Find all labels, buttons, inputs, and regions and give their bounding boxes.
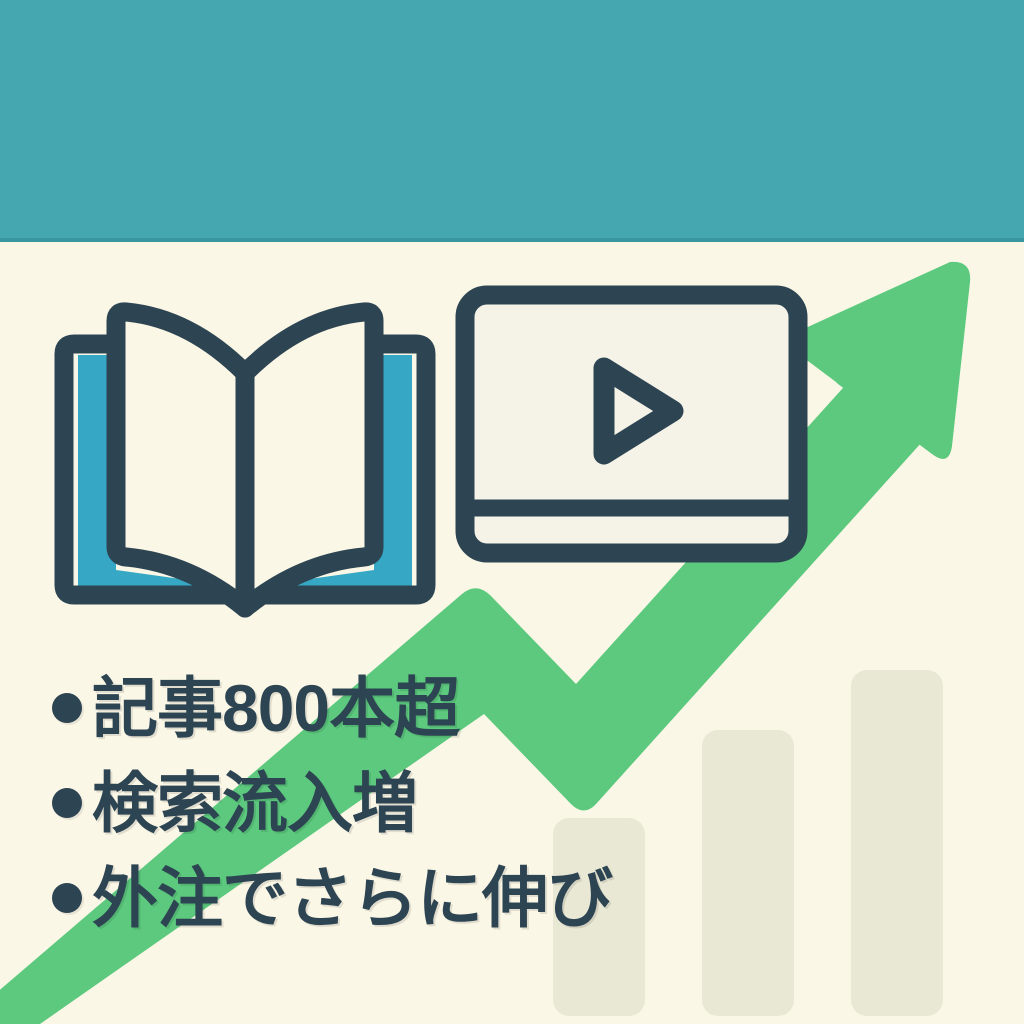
bullet-dot-icon [52, 693, 82, 723]
bar-3 [851, 670, 943, 1016]
header-band [0, 0, 1024, 238]
bullet-label: 検索流入増 [92, 767, 417, 839]
bullet-dot-icon [52, 883, 82, 913]
bar-2 [702, 730, 794, 1016]
bullet-list: 記事800本超 検索流入増 外注でさらに伸び [52, 660, 612, 945]
header-divider-rule [0, 238, 1024, 242]
bullet-label: 外注でさらに伸び [92, 862, 612, 934]
list-item: 外注でさらに伸び [52, 850, 612, 945]
list-item: 検索流入増 [52, 755, 612, 850]
bullet-dot-icon [52, 788, 82, 818]
bullet-label: 記事800本超 [92, 672, 459, 744]
infographic-canvas: 売上伸長マンガ電子書籍 /ドラマVODサイト [0, 0, 1024, 1024]
list-item: 記事800本超 [52, 660, 612, 755]
